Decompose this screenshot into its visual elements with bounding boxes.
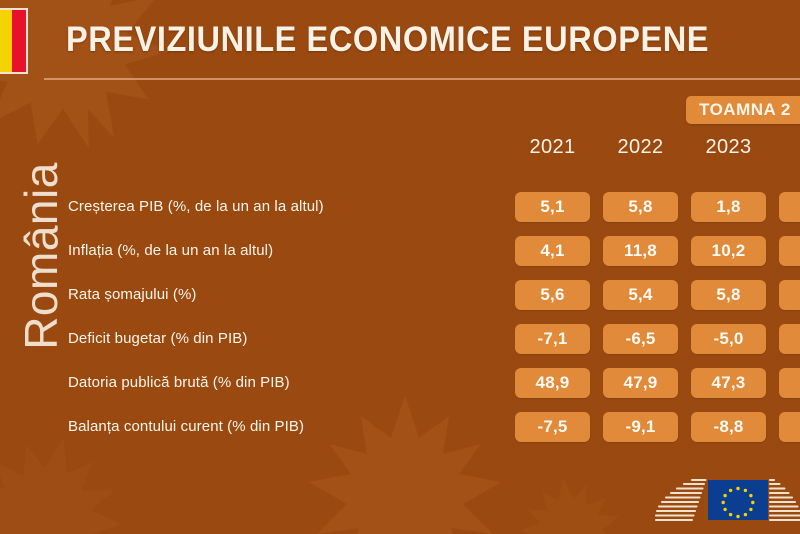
- flag-band-red: [12, 10, 26, 72]
- table-cell: 11,8: [603, 236, 678, 266]
- table-row: Deficit bugetar (% din PIB) -7,1 -6,5 -5…: [0, 324, 800, 368]
- row-label: Rata șomajului (%): [68, 280, 197, 310]
- table-row: Balanța contului curent (% din PIB) -7,5…: [0, 412, 800, 456]
- season-badge: TOAMNA 2: [686, 96, 800, 124]
- eu-logo-fan-left-icon: [652, 476, 708, 524]
- table-cell: [779, 368, 800, 398]
- table-cell: 4,1: [515, 236, 590, 266]
- romania-flag-icon: [0, 8, 28, 74]
- table-row: Inflația (%, de la un an la altul) 4,1 1…: [0, 236, 800, 280]
- eu-flag-icon: [708, 480, 768, 520]
- table-cell: 10,2: [691, 236, 766, 266]
- table-cell: 1,8: [691, 192, 766, 222]
- row-label: Balanța contului curent (% din PIB): [68, 412, 304, 442]
- column-header-year: 2021: [515, 132, 590, 162]
- eu-logo-fan-right-icon: [768, 476, 800, 524]
- table-cell: [779, 192, 800, 222]
- table-cell: [779, 280, 800, 310]
- table-cell: -9,1: [603, 412, 678, 442]
- table-cell: 48,9: [515, 368, 590, 398]
- table-cell: 47,9: [603, 368, 678, 398]
- table-row: Rata șomajului (%) 5,6 5,4 5,8: [0, 280, 800, 324]
- table-cell: 47,3: [691, 368, 766, 398]
- table-cell: [779, 324, 800, 354]
- maple-leaf-watermark-icon: [508, 467, 632, 534]
- table-cell: 5,6: [515, 280, 590, 310]
- column-header-year: 2: [779, 132, 800, 162]
- table-cell: -7,5: [515, 412, 590, 442]
- header: PREVIZIUNILE ECONOMICE EUROPENE: [0, 0, 800, 86]
- row-label: Inflația (%, de la un an la altul): [68, 236, 273, 266]
- table-cell: [779, 412, 800, 442]
- flag-band-yellow: [0, 10, 12, 72]
- row-label: Datoria publică brută (% din PIB): [68, 368, 290, 398]
- table-cell: 5,8: [691, 280, 766, 310]
- row-label: Creșterea PIB (%, de la un an la altul): [68, 192, 324, 222]
- table-row: Datoria publică brută (% din PIB) 48,9 4…: [0, 368, 800, 412]
- european-commission-logo: Com Euro: [652, 472, 800, 528]
- page-title: PREVIZIUNILE ECONOMICE EUROPENE: [66, 20, 709, 60]
- forecast-table: 2021 2022 2023 2 Creșterea PIB (%, de la…: [0, 132, 800, 442]
- infographic-canvas: PREVIZIUNILE ECONOMICE EUROPENE TOAMNA 2…: [0, 0, 800, 534]
- table-cell: -7,1: [515, 324, 590, 354]
- table-cell: -8,8: [691, 412, 766, 442]
- table-row: Creșterea PIB (%, de la un an la altul) …: [0, 192, 800, 236]
- row-label: Deficit bugetar (% din PIB): [68, 324, 247, 354]
- column-header-year: 2023: [691, 132, 766, 162]
- table-cell: -6,5: [603, 324, 678, 354]
- table-cell: 5,8: [603, 192, 678, 222]
- table-header-row: 2021 2022 2023 2: [0, 132, 800, 178]
- table-cell: -5,0: [691, 324, 766, 354]
- table-cell: [779, 236, 800, 266]
- table-cell: 5,4: [603, 280, 678, 310]
- column-header-year: 2022: [603, 132, 678, 162]
- table-cell: 5,1: [515, 192, 590, 222]
